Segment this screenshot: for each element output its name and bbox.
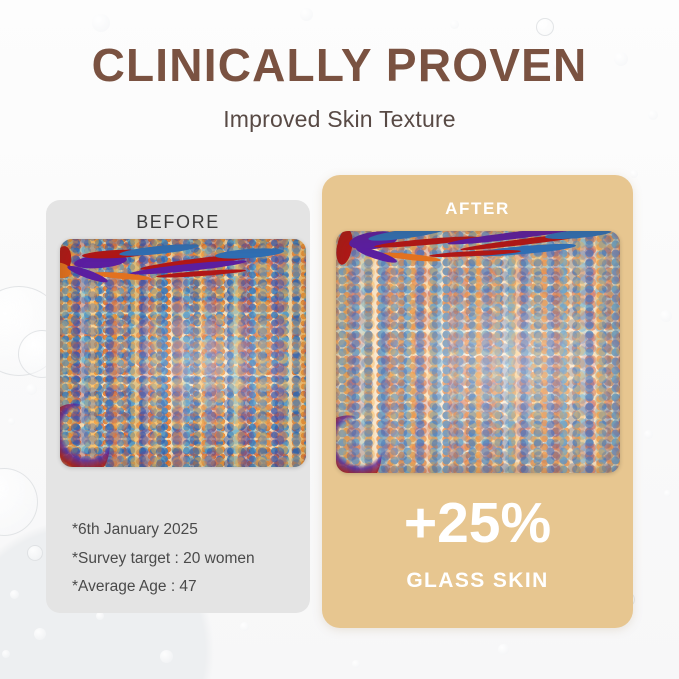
poster-header: CLINICALLY PROVEN Improved Skin Texture: [0, 42, 679, 133]
after-label-wrap: AFTER: [322, 199, 633, 219]
bubble-icon: [498, 644, 509, 655]
bubble-icon: [630, 170, 638, 178]
bubble-icon: [352, 660, 360, 668]
bubble-icon: [644, 430, 653, 439]
bubble-icon: [300, 8, 313, 21]
bubble-icon: [660, 310, 672, 322]
epidermis-band: [336, 231, 620, 287]
before-label-wrap: BEFORE: [46, 212, 310, 233]
footnote-item: *6th January 2025: [72, 516, 302, 545]
footnote-item: *Survey target : 20 women: [72, 545, 302, 574]
result-percentage: +25%: [322, 495, 633, 552]
result-block: +25% GLASS SKIN: [322, 495, 633, 593]
after-label: AFTER: [445, 199, 510, 218]
bubble-icon: [8, 418, 15, 425]
page-title: CLINICALLY PROVEN: [0, 42, 679, 88]
after-image: [336, 231, 620, 473]
bubble-icon: [27, 545, 43, 561]
footnote-item: *Average Age : 47: [72, 573, 302, 602]
bubble-icon: [536, 18, 554, 36]
bubble-icon: [96, 612, 104, 620]
bubble-icon: [92, 14, 110, 32]
result-claim: GLASS SKIN: [322, 569, 633, 593]
before-image: [60, 239, 306, 467]
bubble-icon: [0, 468, 38, 536]
skin-micrograph-after: [336, 231, 620, 473]
poster-canvas: CLINICALLY PROVEN Improved Skin Texture …: [0, 0, 679, 679]
page-subtitle: Improved Skin Texture: [0, 106, 679, 133]
bubble-icon: [10, 590, 19, 599]
skin-micrograph-before: [60, 239, 306, 467]
bubble-icon: [26, 384, 37, 395]
footnotes-list: *6th January 2025 *Survey target : 20 wo…: [72, 516, 302, 602]
epidermis-band: [60, 244, 306, 294]
bubble-icon: [450, 20, 459, 29]
bubble-icon: [664, 490, 671, 497]
bubble-icon: [160, 650, 173, 663]
bubble-icon: [2, 650, 10, 658]
bubble-icon: [34, 628, 46, 640]
bubble-icon: [240, 622, 249, 631]
before-label: BEFORE: [136, 212, 220, 232]
